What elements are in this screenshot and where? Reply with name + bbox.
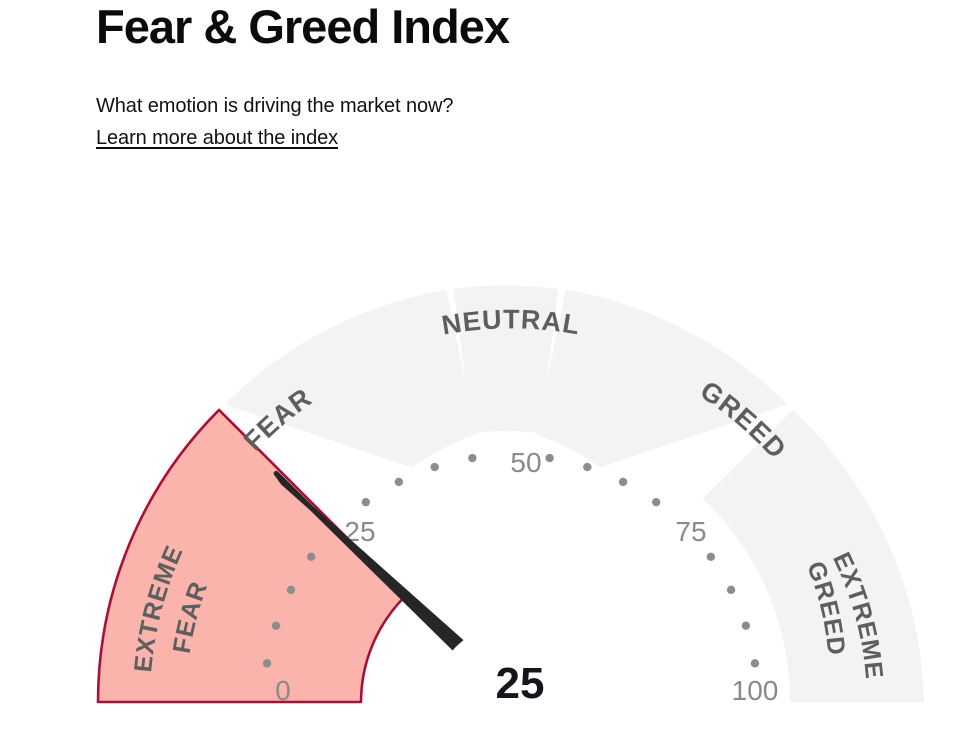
gauge-tick-dot — [707, 553, 715, 561]
fear-greed-index-page: Fear & Greed Index What emotion is drivi… — [0, 0, 975, 732]
gauge-tick-dot — [583, 463, 591, 471]
scale-label-50: 50 — [510, 447, 541, 478]
gauge-tick-dot — [652, 498, 660, 506]
fear-greed-gauge: EXTREME FEAR FEAR NEUTRAL GREED EXTREME — [0, 0, 975, 732]
scale-label-0: 0 — [275, 675, 291, 706]
gauge-tick-dot — [430, 463, 438, 471]
gauge-tick-dot — [395, 478, 403, 486]
gauge-tick-dot — [545, 454, 553, 462]
gauge-tick-dot — [272, 621, 280, 629]
gauge-tick-dot — [263, 659, 271, 667]
gauge-tick-dot — [287, 586, 295, 594]
gauge-value: 25 — [496, 659, 545, 708]
gauge-tick-dot — [751, 659, 759, 667]
scale-label-75: 75 — [675, 516, 706, 547]
gauge-svg: EXTREME FEAR FEAR NEUTRAL GREED EXTREME — [0, 0, 975, 732]
gauge-segment-extreme-greed[interactable] — [703, 410, 924, 702]
gauge-tick-dot — [362, 498, 370, 506]
gauge-tick-dot — [468, 454, 476, 462]
scale-label-100: 100 — [732, 675, 779, 706]
gauge-tick-dot — [307, 553, 315, 561]
gauge-tick-dot — [727, 586, 735, 594]
gauge-tick-dot — [619, 478, 627, 486]
gauge-tick-dot — [742, 621, 750, 629]
